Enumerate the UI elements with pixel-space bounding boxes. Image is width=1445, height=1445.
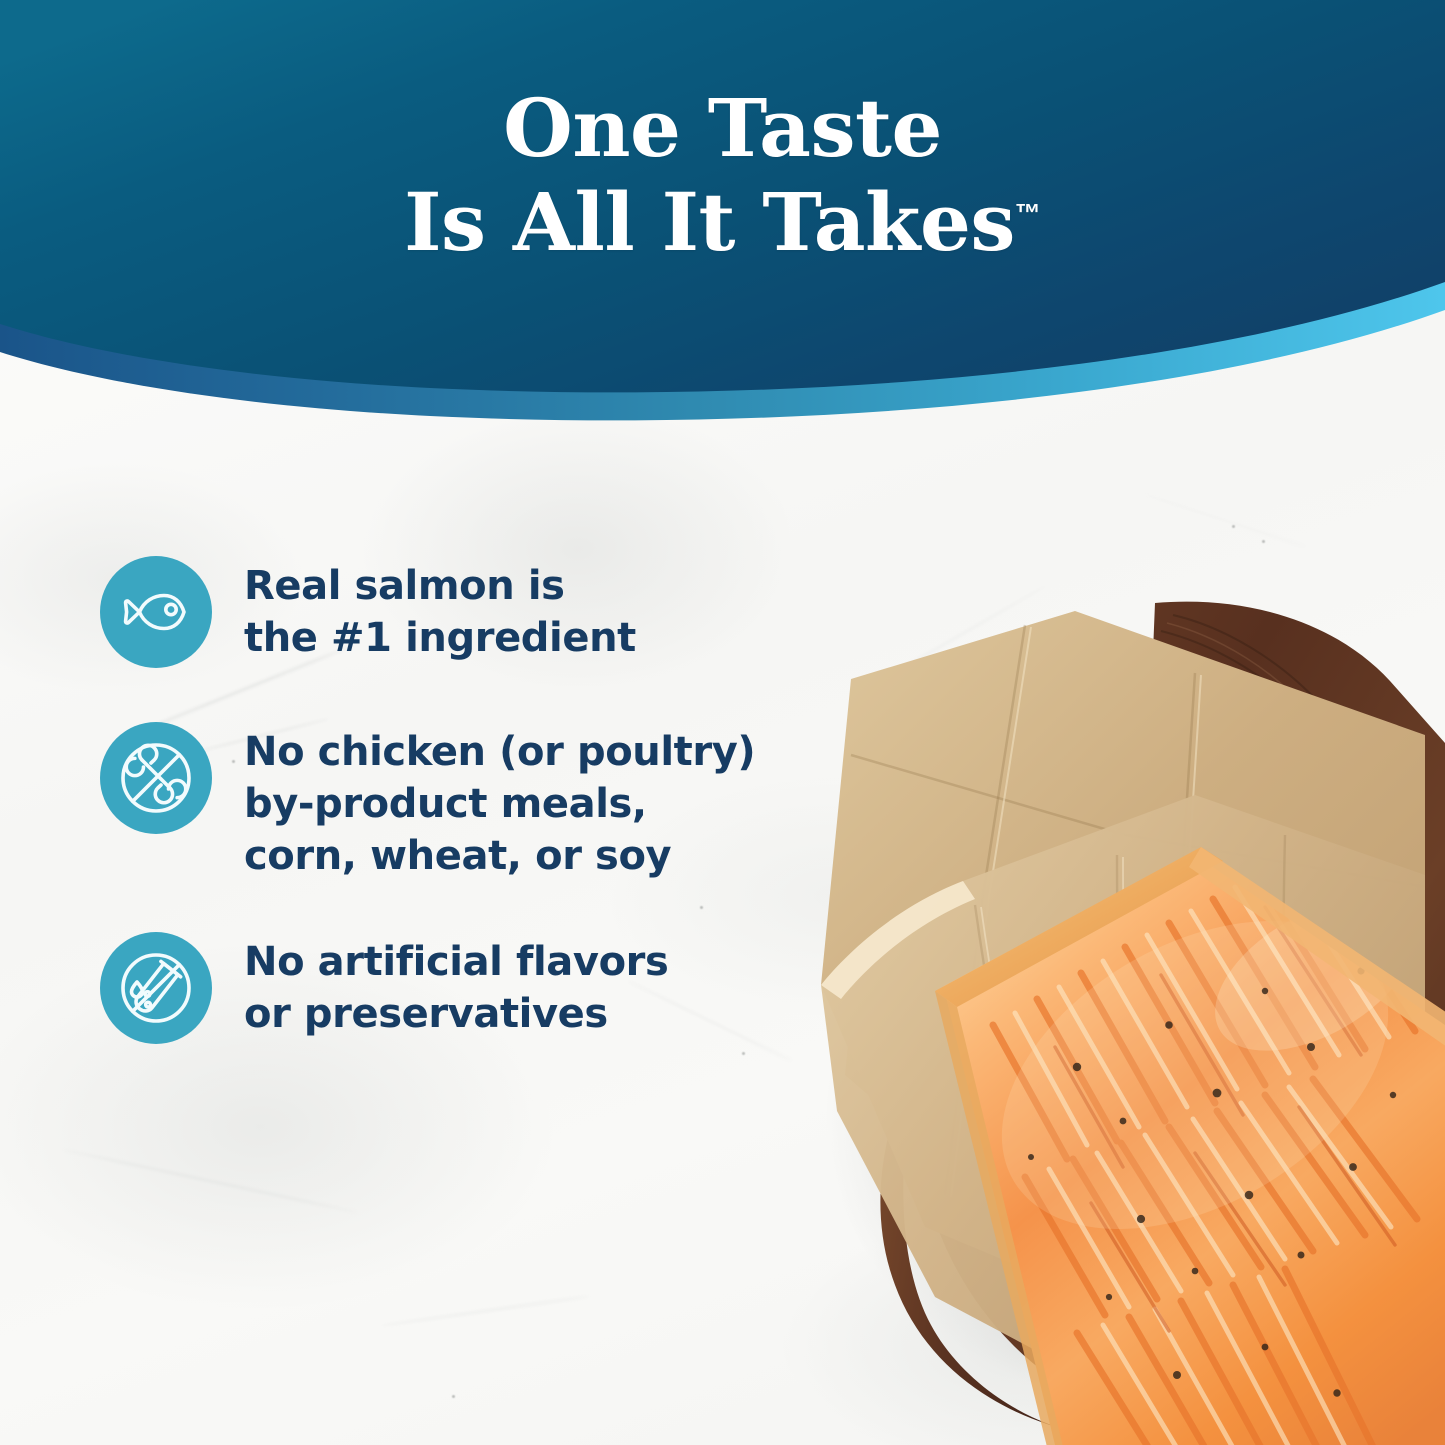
marble-vein xyxy=(381,1295,589,1326)
header-banner xyxy=(0,0,1445,432)
list-item-label: Real salmon is the #1 ingredient xyxy=(244,556,636,664)
no-test-tube-icon xyxy=(100,932,212,1044)
list-item-label: No chicken (or poultry) by-product meals… xyxy=(244,722,755,882)
marble-vein xyxy=(63,1149,357,1213)
marble-vein xyxy=(1144,494,1306,548)
marble-speck xyxy=(1232,525,1235,528)
marble-speck xyxy=(452,1395,455,1398)
fish-icon xyxy=(100,556,212,668)
no-bone-icon xyxy=(100,722,212,834)
list-item-label: No artificial flavors or preservatives xyxy=(244,932,668,1040)
list-item: Real salmon is the #1 ingredient xyxy=(100,556,820,668)
list-item: No chicken (or poultry) by-product meals… xyxy=(100,722,820,882)
list-item: No artificial flavors or preservatives xyxy=(100,932,820,1044)
salmon-photo xyxy=(725,555,1445,1445)
product-feature-poster: One Taste Is All It Takes™ Real salmon i… xyxy=(0,0,1445,1445)
marble-speck xyxy=(1262,540,1265,543)
feature-bullet-list: Real salmon is the #1 ingredient No chic… xyxy=(100,556,820,1044)
